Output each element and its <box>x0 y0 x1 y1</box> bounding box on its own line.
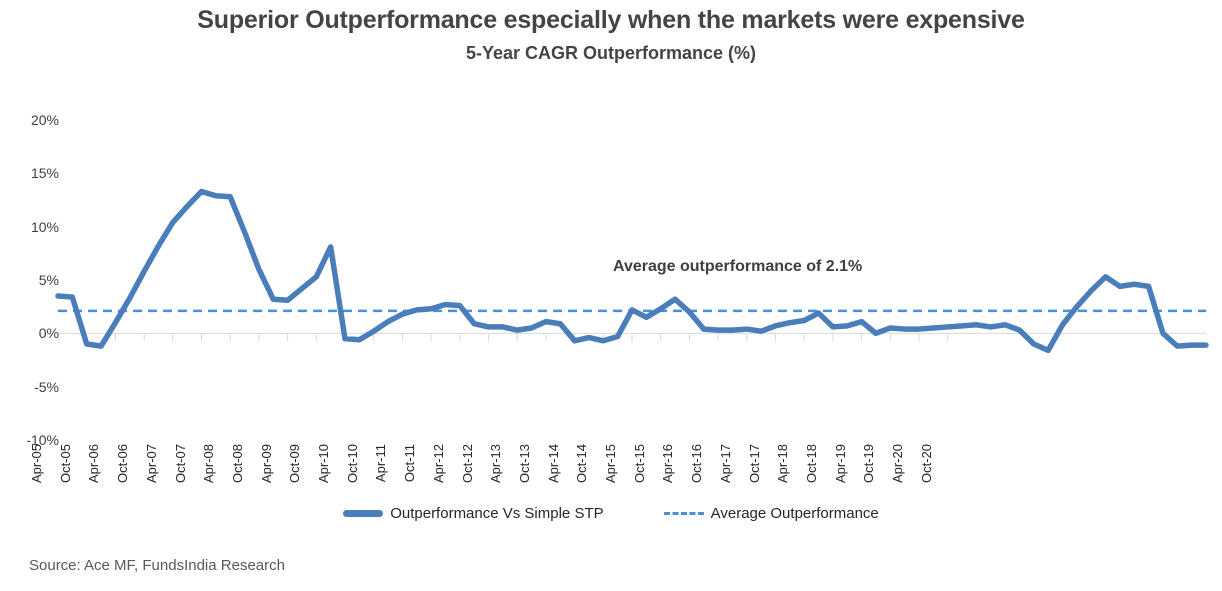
x-axis-tick-label: Oct-20 <box>920 444 976 483</box>
y-axis-tick-label: 10% <box>9 220 59 234</box>
y-axis-tick-label: 0% <box>9 326 59 340</box>
legend-label-outperformance: Outperformance Vs Simple STP <box>390 505 603 522</box>
axis-group <box>58 333 1206 341</box>
y-axis-tick-label: 5% <box>9 273 59 287</box>
legend-entry-outperformance[interactable]: Outperformance Vs Simple STP <box>343 505 603 522</box>
chart-subtitle: 5-Year CAGR Outperformance (%) <box>0 43 1222 64</box>
y-axis-tick-label: 20% <box>9 113 59 127</box>
x-axis: Apr-05Oct-05Apr-06Oct-06Apr-07Oct-07Apr-… <box>58 444 1206 500</box>
chart-canvas <box>58 120 1206 440</box>
legend-label-average: Average Outperformance <box>711 505 879 522</box>
chart-title: Superior Outperformance especially when … <box>0 6 1222 35</box>
plot-area <box>58 120 1206 440</box>
source-note: Source: Ace MF, FundsIndia Research <box>29 557 285 574</box>
y-axis-tick-label: -5% <box>9 380 59 394</box>
legend-swatch-dashed-icon <box>664 512 704 515</box>
y-axis-tick-label: 15% <box>9 166 59 180</box>
legend-swatch-solid-icon <box>343 510 383 517</box>
chart-legend: Outperformance Vs Simple STP Average Out… <box>0 505 1222 522</box>
average-outperformance-annotation: Average outperformance of 2.1% <box>613 258 862 276</box>
legend-entry-average[interactable]: Average Outperformance <box>664 505 879 522</box>
x-axis-ticks <box>58 333 948 341</box>
